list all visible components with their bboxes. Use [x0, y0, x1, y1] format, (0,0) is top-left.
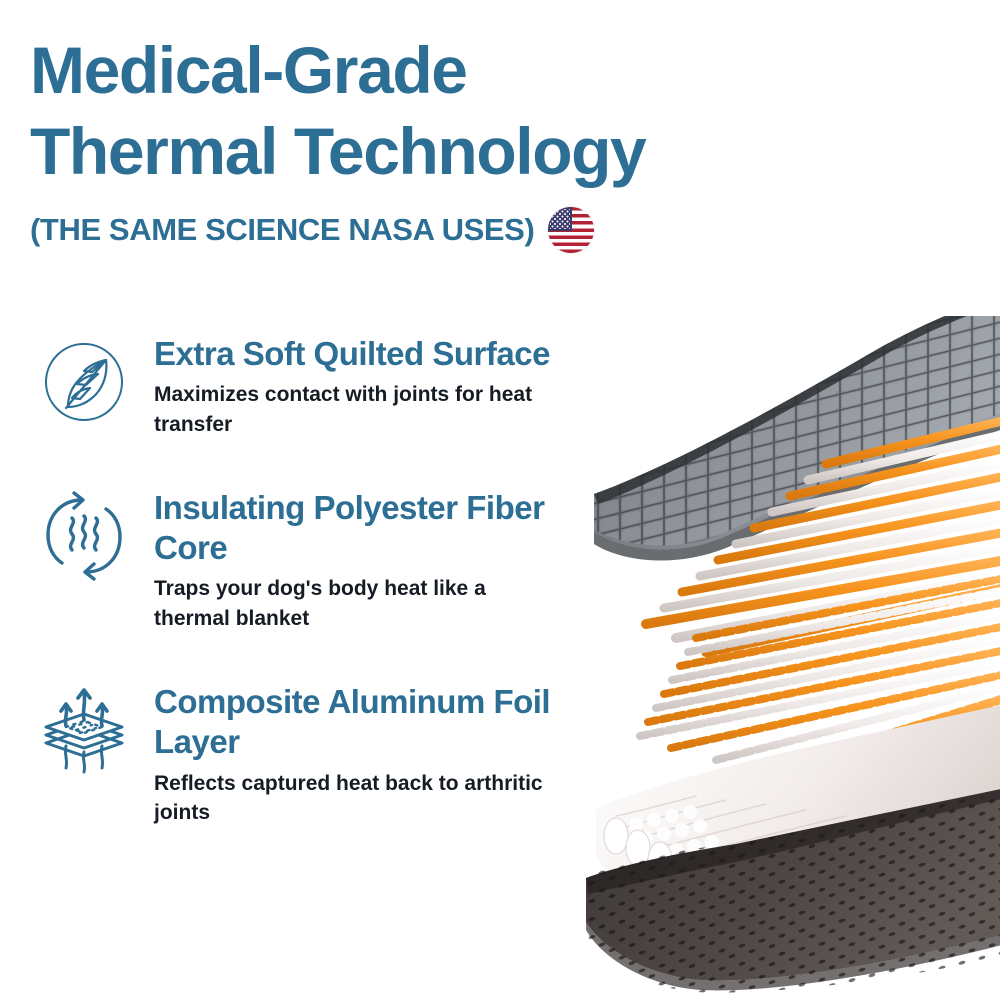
infographic-page: Medical-Grade Thermal Technology (THE SA… — [0, 0, 1000, 1000]
heat-circulation-arrows-icon — [36, 488, 132, 584]
feature-description: Traps your dog's body heat like a therma… — [154, 574, 554, 634]
page-title: Medical-Grade Thermal Technology — [30, 30, 790, 191]
feature-list: Extra Soft Quilted Surface Maximizes con… — [36, 330, 596, 872]
feature-description: Maximizes contact with joints for heat t… — [154, 380, 554, 440]
feature-item-quilted-surface: Extra Soft Quilted Surface Maximizes con… — [36, 330, 596, 440]
feature-item-foil-layer: Composite Aluminum Foil Layer Reflects c… — [36, 678, 596, 828]
feature-title: Insulating Polyester Fiber Core — [154, 488, 596, 569]
feature-text: Extra Soft Quilted Surface Maximizes con… — [154, 330, 596, 440]
us-flag-badge-icon — [548, 207, 594, 253]
feature-title: Composite Aluminum Foil Layer — [154, 682, 596, 763]
feather-leaf-icon — [36, 334, 132, 430]
feature-description: Reflects captured heat back to arthritic… — [154, 769, 554, 829]
subtitle: (THE SAME SCIENCE NASA USES) — [30, 213, 534, 247]
feature-title: Extra Soft Quilted Surface — [154, 334, 596, 374]
feature-text: Composite Aluminum Foil Layer Reflects c… — [154, 678, 596, 828]
feature-item-fiber-core: Insulating Polyester Fiber Core Traps yo… — [36, 484, 596, 634]
feature-text: Insulating Polyester Fiber Core Traps yo… — [154, 484, 596, 634]
exploded-mat-layers-illustration — [576, 316, 1000, 996]
subtitle-row: (THE SAME SCIENCE NASA USES) — [30, 207, 790, 253]
flag-canton — [548, 207, 572, 231]
header: Medical-Grade Thermal Technology (THE SA… — [30, 30, 790, 253]
stacked-foil-layers-arrows-icon — [36, 682, 132, 778]
